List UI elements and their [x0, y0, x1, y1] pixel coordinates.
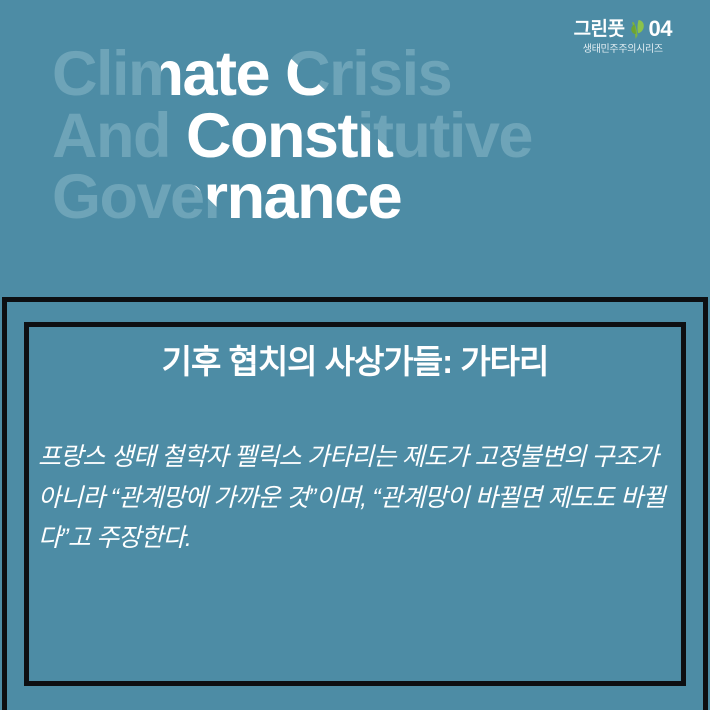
leaf-icon [629, 18, 645, 40]
slide-canvas: 그린풋 04 생태민주주의시리즈 Climate Crisis And Cons… [0, 0, 710, 710]
hero-title-block: Climate Crisis And Constitutive Governan… [52, 44, 672, 264]
brand-number: 04 [649, 18, 672, 40]
brand-name: 그린풋 [574, 20, 625, 39]
card-body-text: 프랑스 생태 철학자 펠릭스 가타리는 제도가 고정불변의 구조가 아니라 “관… [38, 437, 678, 559]
card-heading: 기후 협치의 사상가들: 가타리 [0, 335, 710, 383]
brand-title-row: 그린풋 04 [574, 18, 672, 40]
